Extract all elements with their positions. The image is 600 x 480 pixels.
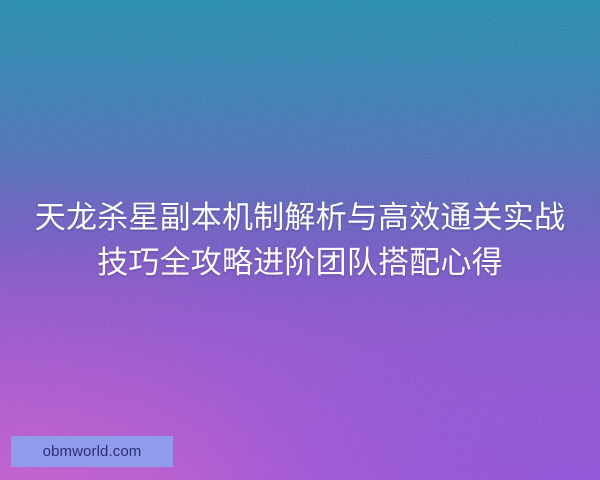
watermark-badge: obmworld.com [11, 436, 173, 467]
watermark-label: obmworld.com [43, 444, 142, 459]
page-title: 天龙杀星副本机制解析与高效通关实战技巧全攻略进阶团队搭配心得 [26, 195, 574, 285]
title-container: 天龙杀星副本机制解析与高效通关实战技巧全攻略进阶团队搭配心得 [0, 0, 600, 480]
title-card: 天龙杀星副本机制解析与高效通关实战技巧全攻略进阶团队搭配心得 obmworld.… [0, 0, 600, 480]
